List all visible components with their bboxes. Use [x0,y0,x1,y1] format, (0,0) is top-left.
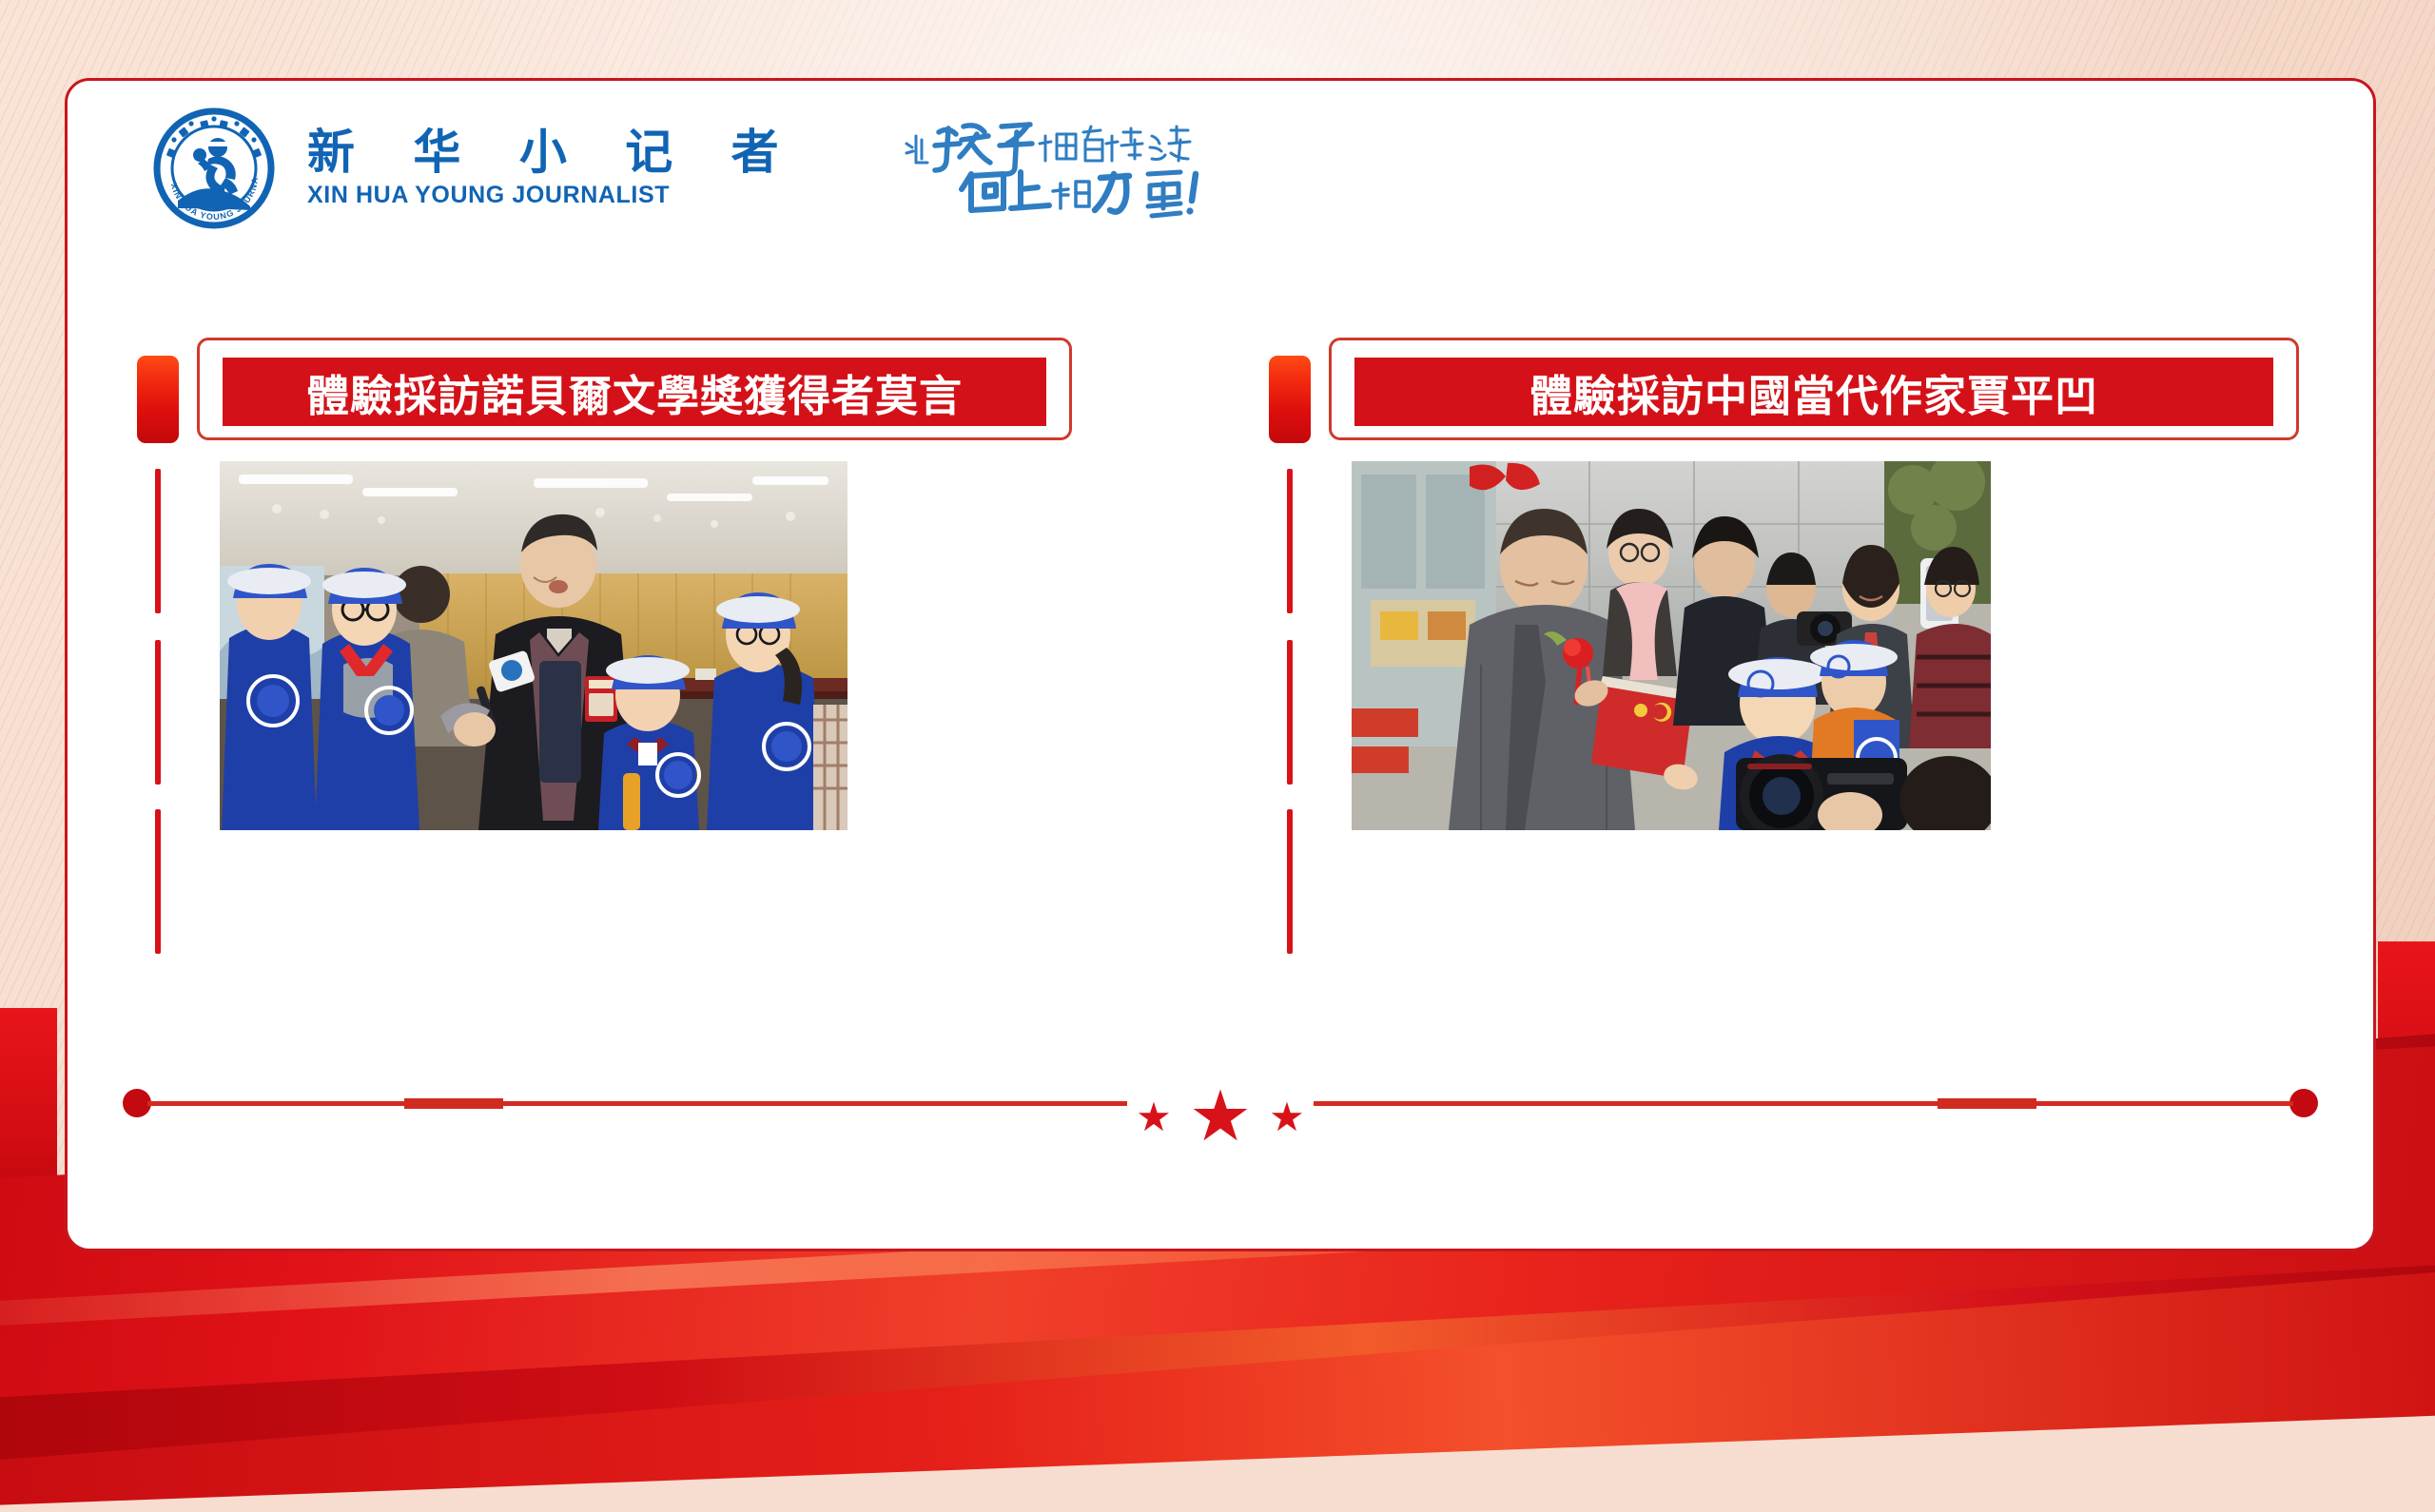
brand-wordmark: 新 华 小 记 者 XIN HUA YOUNG JOURNALIST [307,127,800,209]
dash-segment [1287,809,1293,954]
divider-thick-left [404,1098,503,1109]
banner-fill-jia-pingwa: 體驗採訪中國當代作家賈平凹 [1354,358,2273,426]
banner-outline-jia-pingwa: 體驗採訪中國當代作家賈平凹 [1329,338,2299,440]
dash-segment [1287,640,1293,785]
brand-slogan-handwriting [897,111,1211,225]
dashed-rail-mo-yan [155,469,161,954]
dash-segment [155,640,161,785]
star-small-right-icon: ★ [1269,1097,1305,1137]
section-jia-pingwa: 體驗採訪中國當代作家賈平凹 [1266,338,2293,440]
divider-stars: ★ ★ ★ [1136,1083,1305,1152]
banner-title-jia-pingwa: 體驗採訪中國當代作家賈平凹 [1529,361,2098,423]
brand-header: XIN HUA YOUNG JOURNALIST 新 华 小 记 者 XIN H… [153,107,1211,229]
slide-card: XIN HUA YOUNG JOURNALIST 新 华 小 记 者 XIN H… [65,78,2376,1251]
banner-title-mo-yan: 體驗採訪諾貝爾文學獎獲得者莫言 [306,361,963,423]
brand-name-en: XIN HUA YOUNG JOURNALIST [307,182,800,209]
photo-mo-yan-interview [220,461,847,830]
star-small-left-icon: ★ [1136,1097,1172,1137]
dashed-rail-jia-pingwa [1287,469,1293,954]
divider-dot-right-icon [2289,1089,2318,1117]
section-mo-yan: 體驗採訪諾貝爾文學獎獲得者莫言 [134,338,1161,440]
banner-tab-mo-yan [137,356,179,443]
brand-name-cn: 新 华 小 记 者 [307,127,800,178]
divider-line-right [1314,1101,2293,1106]
divider-thick-right [1938,1098,2036,1109]
xinhua-young-journalist-emblem-icon: XIN HUA YOUNG JOURNALIST [153,107,275,229]
banner-fill-mo-yan: 體驗採訪諾貝爾文學獎獲得者莫言 [223,358,1046,426]
dash-segment [155,469,161,613]
divider-line-left [147,1101,1127,1106]
dash-segment [155,809,161,954]
banner-outline-mo-yan: 體驗採訪諾貝爾文學獎獲得者莫言 [197,338,1072,440]
photo-jia-pingwa-interview [1352,461,1991,830]
banner-tab-jia-pingwa [1269,356,1311,443]
dash-segment [1287,469,1293,613]
bottom-divider: ★ ★ ★ [68,1079,2373,1125]
star-large-icon: ★ [1189,1081,1252,1152]
